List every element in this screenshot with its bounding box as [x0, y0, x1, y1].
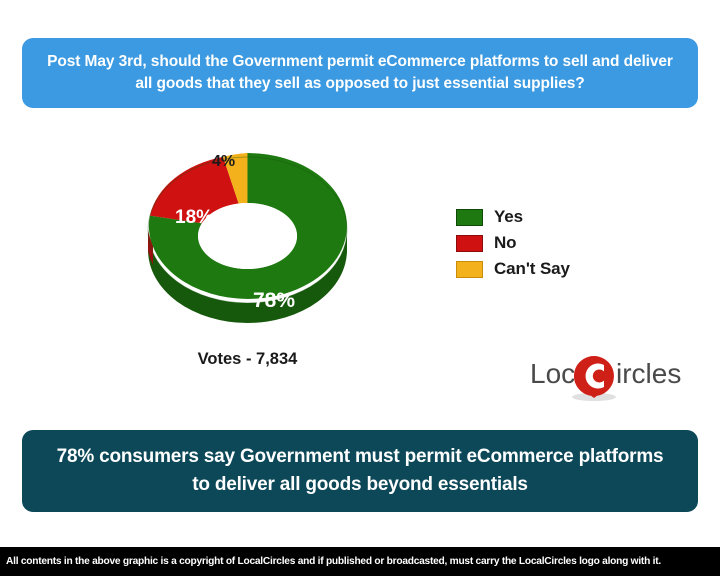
localcircles-logo-svg: Local ircles [530, 352, 695, 402]
legend-swatch-yes [456, 209, 483, 226]
chart-legend: Yes No Can't Say [456, 204, 570, 282]
donut-chart: 78% 18% 4% [140, 145, 355, 350]
legend-swatch-no [456, 235, 483, 252]
slice-label-yes: 78% [253, 289, 295, 313]
legend-label-no: No [494, 233, 516, 253]
legend-item-cantsay: Can't Say [456, 256, 570, 282]
legend-swatch-cantsay [456, 261, 483, 278]
legend-item-yes: Yes [456, 204, 570, 230]
legend-label-yes: Yes [494, 207, 523, 227]
votes-count: Votes - 7,834 [140, 350, 355, 369]
question-banner: Post May 3rd, should the Government perm… [22, 38, 698, 108]
copyright-text: All contents in the above graphic is a c… [6, 556, 661, 567]
conclusion-banner: 78% consumers say Government must permit… [22, 430, 698, 512]
logo-text-after: ircles [616, 358, 681, 389]
donut-chart-svg [140, 145, 355, 350]
legend-label-cantsay: Can't Say [494, 259, 570, 279]
localcircles-logo: Local ircles [530, 352, 695, 402]
poll-chart: 78% 18% 4% Votes - 7,834 Yes No Can't Sa… [0, 120, 720, 420]
slice-label-cantsay: 4% [212, 153, 235, 171]
question-text: Post May 3rd, should the Government perm… [44, 51, 676, 96]
slice-label-no: 18% [175, 207, 213, 229]
copyright-strip: All contents in the above graphic is a c… [0, 547, 720, 576]
legend-item-no: No [456, 230, 570, 256]
conclusion-text: 78% consumers say Government must permit… [50, 443, 670, 498]
